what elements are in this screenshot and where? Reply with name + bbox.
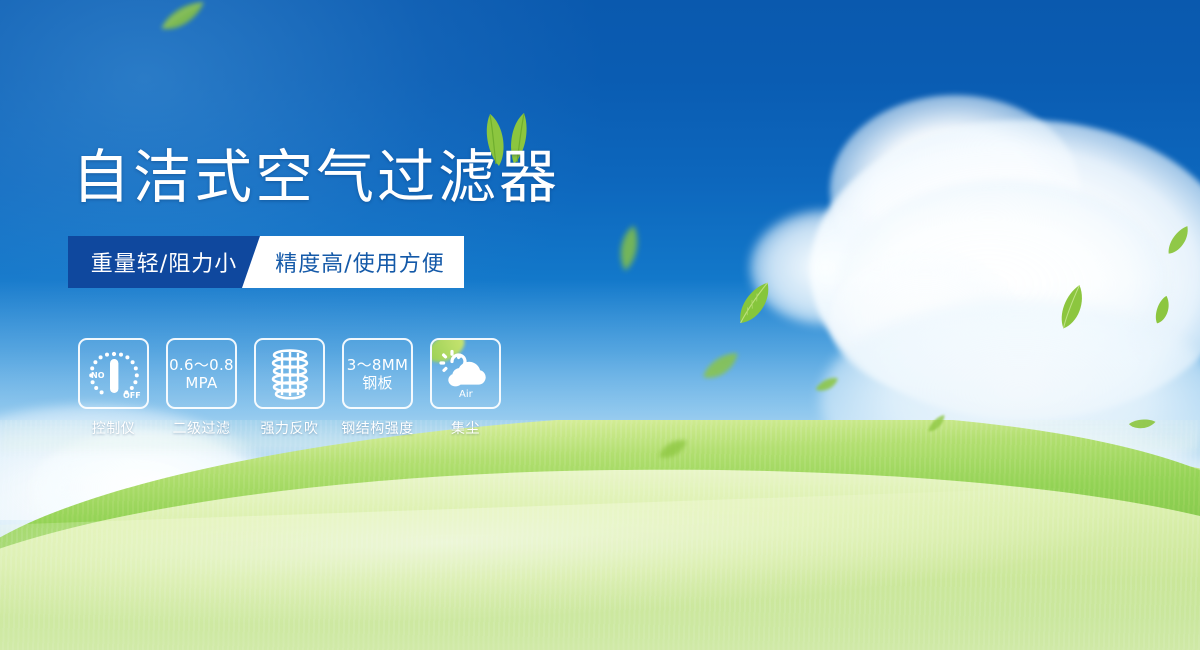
feature-item-steel[interactable]: 3～8MM 钢板 钢结构强度 xyxy=(340,338,415,438)
subtitle-banner: 重量轻/阻力小 精度高/使用方便 xyxy=(68,236,464,288)
feature-icon-box xyxy=(254,338,325,409)
feature-list: NO OFF 控制仪 0.6～0.8 MPA 二级过滤 xyxy=(76,338,503,438)
cloud-shape xyxy=(830,95,1080,285)
steel-value-line2: 钢板 xyxy=(362,374,393,392)
cloud-shape xyxy=(750,210,900,325)
feature-icon-box: Air xyxy=(430,338,501,409)
hero-banner: 自洁式空气过滤器 重量轻/阻力小 精度高/使用方便 xyxy=(0,0,1200,650)
steel-value-line1: 3～8MM xyxy=(347,356,408,374)
feature-caption: 二级过滤 xyxy=(173,418,231,438)
cloud-shape xyxy=(830,250,1020,390)
svg-text:NO: NO xyxy=(91,371,105,380)
leaf-icon xyxy=(1147,293,1178,327)
page-title: 自洁式空气过滤器 xyxy=(72,146,560,208)
leaf-icon xyxy=(727,278,784,331)
feature-item-dust[interactable]: Air 集尘 xyxy=(428,338,503,438)
cloud-shape xyxy=(810,120,1200,420)
leaf-icon xyxy=(813,375,841,394)
leaf-icon xyxy=(1160,223,1198,259)
cloud-shape xyxy=(840,180,1170,390)
svg-text:OFF: OFF xyxy=(123,391,141,400)
filter-stack-icon xyxy=(264,347,316,401)
cloud-sun-air-icon: Air xyxy=(438,349,494,399)
feature-caption: 强力反吹 xyxy=(261,418,319,438)
gauge-dial-icon: NO OFF xyxy=(85,347,143,401)
grass-field xyxy=(0,420,1200,650)
feature-caption: 钢结构强度 xyxy=(341,418,414,438)
pressure-value-line2: MPA xyxy=(185,374,217,392)
leaf-icon xyxy=(156,0,212,38)
subtitle-left-label: 重量轻/阻力小 xyxy=(68,236,260,288)
feature-item-backblow[interactable]: 强力反吹 xyxy=(252,338,327,438)
pressure-value-line1: 0.6～0.8 xyxy=(169,356,234,374)
leaf-icon xyxy=(697,349,744,385)
leaf-icon xyxy=(1049,282,1098,334)
feature-icon-box: NO OFF xyxy=(78,338,149,409)
feature-item-pressure[interactable]: 0.6～0.8 MPA 二级过滤 xyxy=(164,338,239,438)
ground-light xyxy=(0,580,1200,650)
feature-caption: 集尘 xyxy=(451,418,480,438)
feature-item-controller[interactable]: NO OFF 控制仪 xyxy=(76,338,151,438)
svg-text:Air: Air xyxy=(459,389,474,399)
subtitle-right-label: 精度高/使用方便 xyxy=(242,236,464,288)
feature-icon-box: 3～8MM 钢板 xyxy=(342,338,413,409)
feature-caption: 控制仪 xyxy=(92,418,136,438)
feature-icon-box: 0.6～0.8 MPA xyxy=(166,338,237,409)
leaf-icon xyxy=(611,222,646,274)
